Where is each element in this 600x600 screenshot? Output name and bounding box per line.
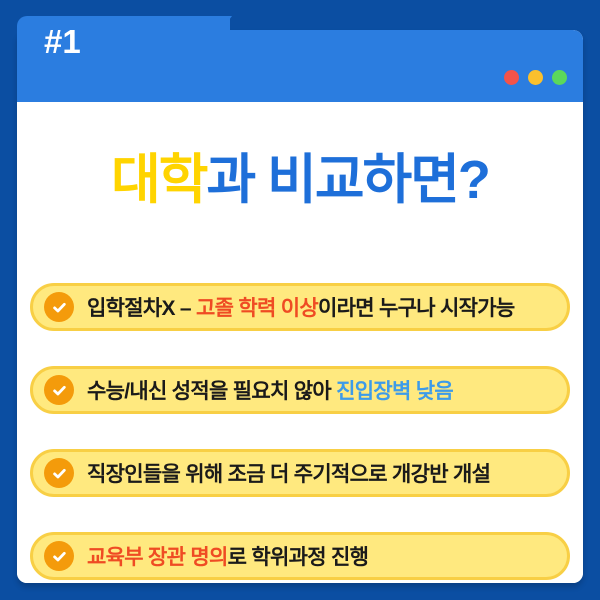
list-item-segment-highlight: 교육부 장관 명의 <box>87 546 228 569</box>
check-icon <box>44 458 74 488</box>
list-item-segment: 로 학위과정 진행 <box>228 546 369 569</box>
window-body: 대학과 비교하면? 입학절차X – 고졸 학력 이상이라면 누구나 시작가능 <box>17 102 583 583</box>
list-item-text: 입학절차X – 고졸 학력 이상이라면 누구나 시작가능 <box>87 292 515 322</box>
check-icon <box>44 375 74 405</box>
list-item-segment-highlight: 고졸 학력 이상 <box>196 297 318 320</box>
window-traffic-lights <box>504 70 567 85</box>
list-item-segment-highlight: 진입장벽 낮음 <box>336 380 453 403</box>
page-title: 대학과 비교하면? <box>17 150 583 210</box>
list-item-text: 교육부 장관 명의로 학위과정 진행 <box>87 541 368 571</box>
minimize-dot[interactable] <box>528 70 543 85</box>
maximize-dot[interactable] <box>552 70 567 85</box>
list-item[interactable]: 수능/내신 성적을 필요치 않아 진입장벽 낮음 <box>30 366 570 414</box>
list-item[interactable]: 교육부 장관 명의로 학위과정 진행 <box>30 532 570 580</box>
browser-window-card: #1 대학과 비교하면? 입학절차X – 고졸 학력 이상이라면 누구나 시작가… <box>17 30 583 583</box>
list-item[interactable]: 직장인들을 위해 조금 더 주기적으로 개강반 개설 <box>30 449 570 497</box>
list-item[interactable]: 입학절차X – 고졸 학력 이상이라면 누구나 시작가능 <box>30 283 570 331</box>
list-item-segment: 직장인들을 위해 조금 더 주기적으로 개강반 개설 <box>87 463 490 486</box>
check-icon <box>44 292 74 322</box>
list-item-segment: 이라면 누구나 시작가능 <box>318 297 514 320</box>
window-tab-slant <box>210 16 232 46</box>
close-dot[interactable] <box>504 70 519 85</box>
window-header-bar <box>17 30 583 102</box>
infographic-canvas: #1 대학과 비교하면? 입학절차X – 고졸 학력 이상이라면 누구나 시작가… <box>0 0 600 600</box>
list-item-text: 수능/내신 성적을 필요치 않아 진입장벽 낮음 <box>87 375 453 405</box>
bullet-list: 입학절차X – 고졸 학력 이상이라면 누구나 시작가능 수능/내신 성적을 필… <box>30 283 570 580</box>
list-item-segment: 입학절차X – <box>87 297 196 320</box>
page-title-part-1: 대학 <box>111 150 206 210</box>
list-item-segment: 수능/내신 성적을 필요치 않아 <box>87 380 336 403</box>
list-item-text: 직장인들을 위해 조금 더 주기적으로 개강반 개설 <box>87 458 490 488</box>
tab-label: #1 <box>44 22 81 62</box>
check-icon <box>44 541 74 571</box>
page-title-part-2: 과 비교하면? <box>206 150 488 210</box>
